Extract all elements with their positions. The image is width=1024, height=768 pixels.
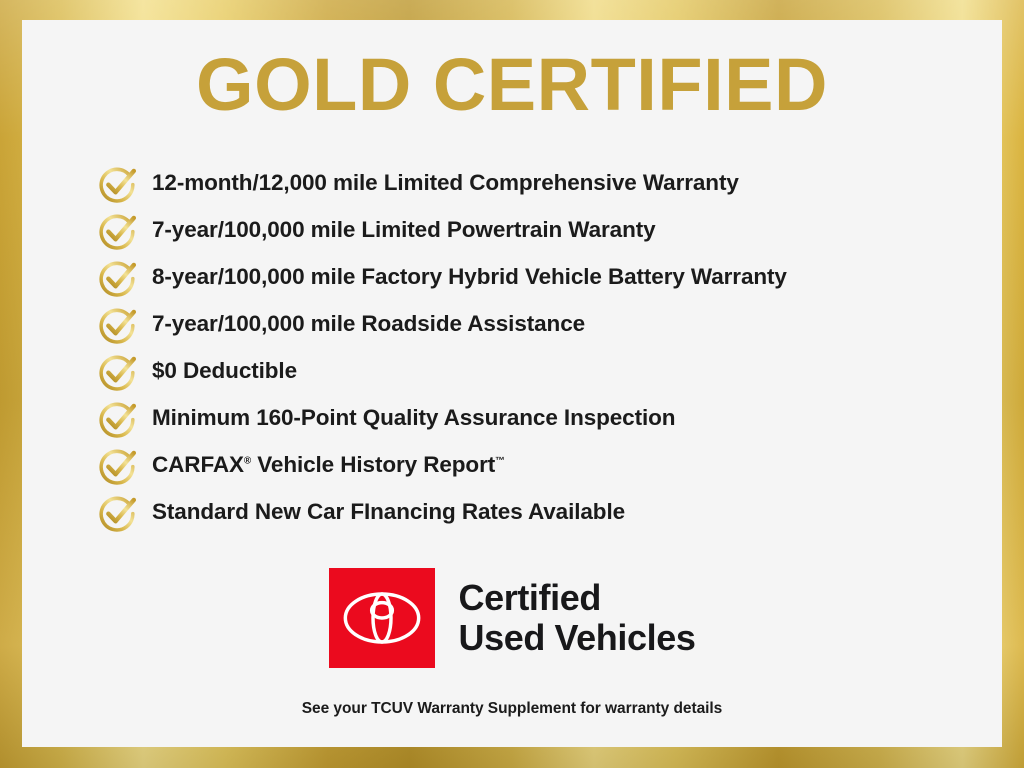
gold-check-icon (96, 350, 140, 394)
gold-check-icon (96, 209, 140, 253)
toyota-logo-tile (329, 568, 435, 668)
gold-check-icon (96, 491, 140, 535)
feature-label: 7-year/100,000 mile Limited Powertrain W… (152, 218, 656, 243)
certification-card: GOLD CERTIFIED 12-month/12,000 mile Limi… (22, 20, 1002, 747)
list-item: 7-year/100,000 mile Limited Powertrain W… (96, 207, 976, 254)
logo-wordmark: Certified Used Vehicles (459, 578, 696, 659)
page-title: GOLD CERTIFIED (22, 48, 1002, 122)
gold-check-icon (96, 162, 140, 206)
toyota-certified-used-vehicles-logo: Certified Used Vehicles (22, 568, 1002, 668)
feature-label: Standard New Car FInancing Rates Availab… (152, 500, 625, 525)
list-item: Standard New Car FInancing Rates Availab… (96, 489, 976, 536)
feature-label: 7-year/100,000 mile Roadside Assistance (152, 312, 585, 337)
gold-check-icon (96, 444, 140, 488)
carfax-report-text: Vehicle History Report (251, 452, 495, 477)
trademark-mark: ™ (495, 456, 505, 467)
toyota-emblem-icon (342, 590, 422, 646)
list-item: Minimum 160-Point Quality Assurance Insp… (96, 395, 976, 442)
list-item: $0 Deductible (96, 348, 976, 395)
list-item: 8-year/100,000 mile Factory Hybrid Vehic… (96, 254, 976, 301)
logo-line-2: Used Vehicles (459, 618, 696, 658)
feature-label-carfax: CARFAX® Vehicle History Report™ (152, 453, 505, 478)
carfax-wordmark: CARFAX (152, 452, 244, 477)
gold-metallic-frame: GOLD CERTIFIED 12-month/12,000 mile Limi… (0, 0, 1024, 768)
gold-check-icon (96, 397, 140, 441)
gold-check-icon (96, 303, 140, 347)
gold-check-icon (96, 256, 140, 300)
feature-label: Minimum 160-Point Quality Assurance Insp… (152, 406, 675, 431)
feature-list: 12-month/12,000 mile Limited Comprehensi… (96, 160, 976, 536)
feature-label: $0 Deductible (152, 359, 297, 384)
logo-line-1: Certified (459, 578, 696, 618)
feature-label: 12-month/12,000 mile Limited Comprehensi… (152, 171, 739, 196)
feature-label: 8-year/100,000 mile Factory Hybrid Vehic… (152, 265, 787, 290)
list-item: CARFAX® Vehicle History Report™ (96, 442, 976, 489)
list-item: 7-year/100,000 mile Roadside Assistance (96, 301, 976, 348)
list-item: 12-month/12,000 mile Limited Comprehensi… (96, 160, 976, 207)
warranty-footnote: See your TCUV Warranty Supplement for wa… (22, 700, 1002, 718)
